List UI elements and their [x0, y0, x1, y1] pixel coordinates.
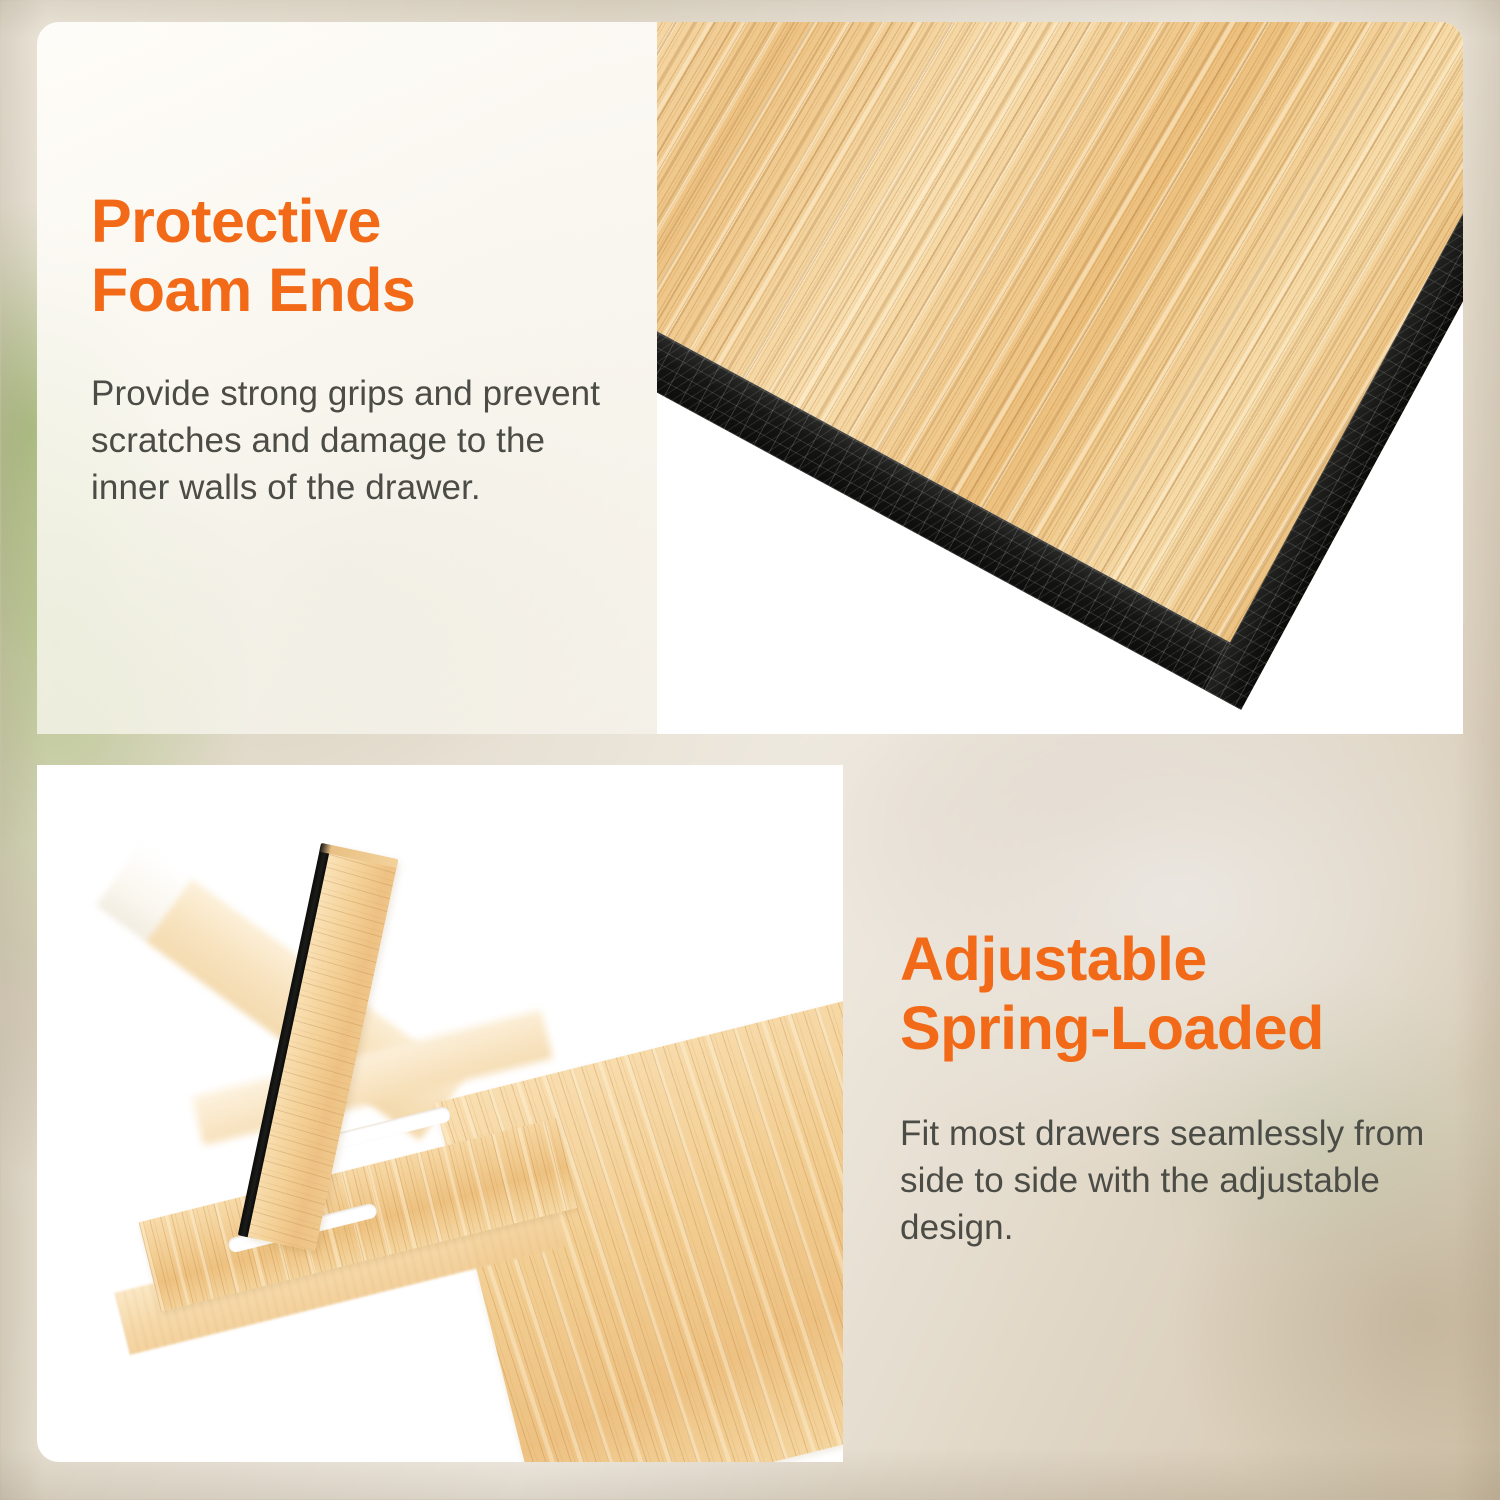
feature-heading-adjustable-spring-loaded: Adjustable Spring-Loaded — [900, 925, 1445, 1063]
heading-line-1: Adjustable — [900, 925, 1445, 994]
feature-text-card-top-left: Protective Foam Ends Provide strong grip… — [37, 22, 659, 734]
feature-text-block-protective-foam-ends: Protective Foam Ends Provide strong grip… — [91, 187, 631, 512]
heading-line-2: Foam Ends — [91, 256, 631, 325]
white-foam-tip — [96, 842, 192, 942]
feature-photo-top-right — [657, 22, 1463, 734]
feature-photo-bottom-left — [37, 765, 843, 1462]
feature-body-adjustable-spring-loaded: Fit most drawers seamlessly from side to… — [900, 1111, 1445, 1252]
crossbar-foam-edge — [238, 844, 331, 1237]
feature-body-protective-foam-ends: Provide strong grips and prevent scratch… — [91, 371, 631, 512]
crossbar-end-cap — [319, 843, 398, 868]
feature-text-area-bottom-right: Adjustable Spring-Loaded Fit most drawer… — [843, 765, 1463, 1462]
feature-text-block-adjustable-spring-loaded: Adjustable Spring-Loaded Fit most drawer… — [900, 925, 1445, 1252]
bamboo-board-with-foam-edge — [657, 22, 1463, 730]
heading-line-1: Protective — [91, 187, 631, 256]
spring-loaded-divider-assembly — [37, 765, 843, 1462]
product-feature-graphic: Protective Foam Ends Provide strong grip… — [0, 0, 1500, 1500]
feature-heading-protective-foam-ends: Protective Foam Ends — [91, 187, 631, 325]
heading-line-2: Spring-Loaded — [900, 994, 1445, 1063]
